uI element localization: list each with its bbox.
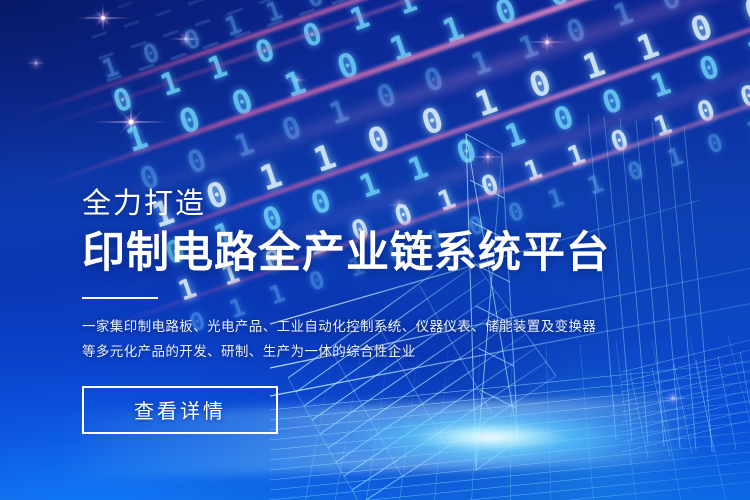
eyebrow-text: 全力打造 — [82, 190, 610, 219]
description-line-1: 一家集印制电路板、光电产品、工业自动化控制系统、仪器仪表、储能装置及变换器 — [82, 314, 610, 339]
title-divider — [82, 297, 158, 299]
description-line-2: 等多元化产品的开发、研制、生产为一体的综合性企业 — [82, 339, 610, 364]
view-details-button[interactable]: 查看详情 — [82, 386, 278, 434]
banner-content: 全力打造 印制电路全产业链系统平台 一家集印制电路板、光电产品、工业自动化控制系… — [82, 190, 610, 434]
page-title: 印制电路全产业链系统平台 — [82, 232, 610, 276]
hero-banner: 1 0 0 1 1 0 1 0 0 1 1 0 1 0 0 1 0 1 1 0 … — [0, 0, 750, 500]
